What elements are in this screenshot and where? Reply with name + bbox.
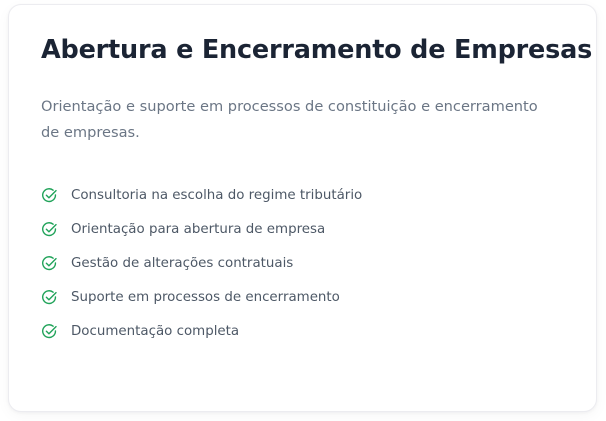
list-item: Orientação para abertura de empresa [41, 213, 566, 247]
check-circle-icon [41, 187, 58, 204]
list-item: Gestão de alterações contratuais [41, 247, 566, 281]
feature-label: Gestão de alterações contratuais [71, 257, 293, 270]
feature-label: Suporte em processos de encerramento [71, 291, 340, 304]
page-root: Abertura e Encerramento de Empresas Orie… [0, 0, 606, 421]
feature-label: Documentação completa [71, 325, 239, 338]
service-card: Abertura e Encerramento de Empresas Orie… [8, 4, 597, 412]
check-circle-icon [41, 255, 58, 272]
card-content: Abertura e Encerramento de Empresas Orie… [41, 35, 566, 349]
list-item: Documentação completa [41, 315, 566, 349]
feature-label: Consultoria na escolha do regime tributá… [71, 189, 362, 202]
check-circle-icon [41, 289, 58, 306]
card-description: Orientação e suporte em processos de con… [41, 66, 553, 146]
card-title: Abertura e Encerramento de Empresas [41, 35, 566, 66]
check-circle-icon [41, 221, 58, 238]
check-circle-icon [41, 323, 58, 340]
feature-label: Orientação para abertura de empresa [71, 223, 325, 236]
list-item: Suporte em processos de encerramento [41, 281, 566, 315]
feature-list: Consultoria na escolha do regime tributá… [41, 146, 566, 349]
list-item: Consultoria na escolha do regime tributá… [41, 179, 566, 213]
